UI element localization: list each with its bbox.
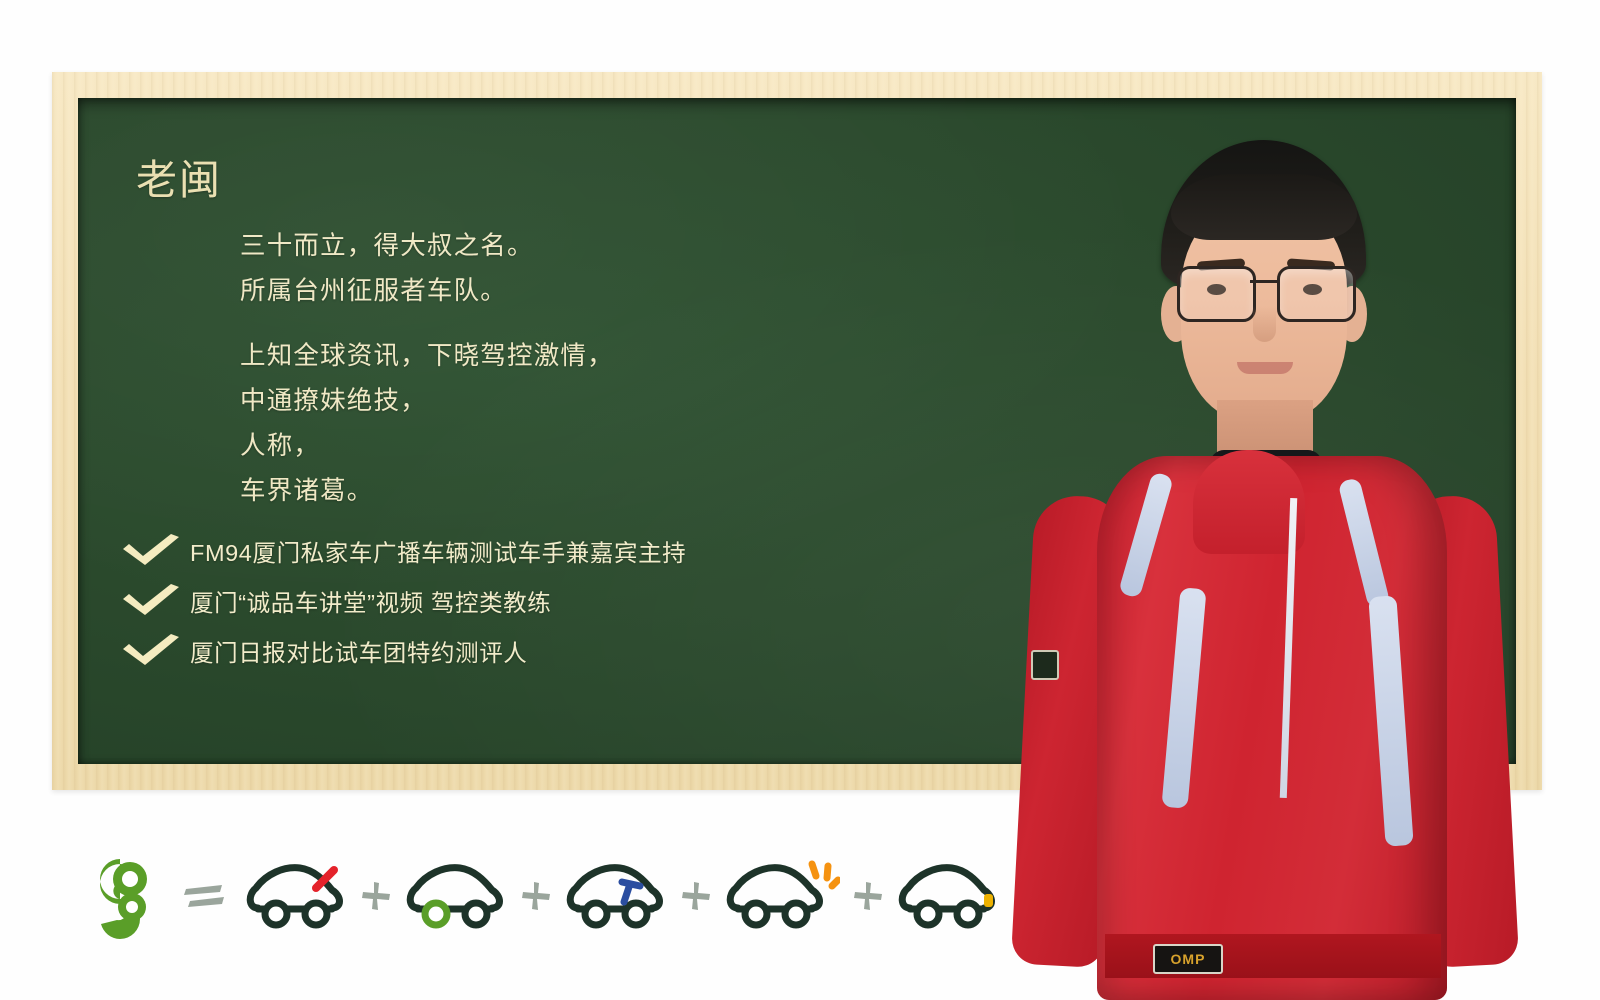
plus-icon bbox=[679, 879, 713, 918]
car-taillight-icon bbox=[896, 858, 1000, 939]
verse-block: 三十而立，得大叔之名。 所属台州征服者车队。 上知全球资讯，下晓驾控激情， 中通… bbox=[240, 224, 614, 514]
verse-line-2: 所属台州征服者车队。 bbox=[240, 269, 614, 314]
car-wrench-icon bbox=[564, 858, 668, 939]
blackboard-content: 老闽 三十而立，得大叔之名。 所属台州征服者车队。 上知全球资讯，下晓驾控激情，… bbox=[78, 98, 1516, 764]
plus-icon bbox=[359, 879, 393, 918]
blackboard-frame: 老闽 三十而立，得大叔之名。 所属台州征服者车队。 上知全球资讯，下晓驾控激情，… bbox=[52, 72, 1542, 790]
verse-line-6: 人称， bbox=[240, 424, 614, 469]
verse-spacer bbox=[240, 314, 614, 334]
brand-logo-row bbox=[80, 838, 1002, 958]
blackboard-surface: 老闽 三十而立，得大叔之名。 所属台州征服者车队。 上知全球资讯，下晓驾控激情，… bbox=[78, 98, 1516, 764]
slide-canvas: 老闽 三十而立，得大叔之名。 所属台州征服者车队。 上知全球资讯，下晓驾控激情，… bbox=[0, 0, 1600, 1000]
verse-line-5: 中通撩妹绝技， bbox=[240, 379, 614, 424]
car-antenna-icon bbox=[244, 858, 348, 939]
s-logo-icon bbox=[80, 853, 156, 944]
car-green-wheel-icon bbox=[404, 858, 508, 939]
omp-badge: OMP bbox=[1153, 944, 1223, 974]
jacket-belt bbox=[1105, 934, 1441, 978]
list-item: FM94厦门私家车广播车辆测试车手兼嘉宾主持 bbox=[114, 526, 686, 575]
page-title: 老闽 bbox=[136, 146, 222, 206]
equals-icon bbox=[182, 879, 226, 918]
verse-line-1: 三十而立，得大叔之名。 bbox=[240, 224, 614, 269]
verse-line-4: 上知全球资讯，下晓驾控激情， bbox=[240, 334, 614, 379]
list-item-label: FM94厦门私家车广播车辆测试车手兼嘉宾主持 bbox=[190, 534, 686, 568]
car-sparks-icon bbox=[724, 858, 840, 939]
check-icon bbox=[114, 634, 190, 668]
list-item-label: 厦门日报对比试车团特约测评人 bbox=[190, 634, 527, 668]
list-item: 厦门日报对比试车团特约测评人 bbox=[114, 626, 686, 675]
verse-line-7: 车界诸葛。 bbox=[240, 469, 614, 514]
check-icon bbox=[114, 534, 190, 568]
list-item-label: 厦门“诚品车讲堂”视频 驾控类教练 bbox=[190, 584, 551, 618]
list-item: 厦门“诚品车讲堂”视频 驾控类教练 bbox=[114, 576, 686, 625]
credentials-list: FM94厦门私家车广播车辆测试车手兼嘉宾主持 厦门“诚品车讲堂”视频 驾控类教练 bbox=[114, 526, 686, 676]
plus-icon bbox=[851, 879, 885, 918]
plus-icon bbox=[519, 879, 553, 918]
check-icon bbox=[114, 584, 190, 618]
